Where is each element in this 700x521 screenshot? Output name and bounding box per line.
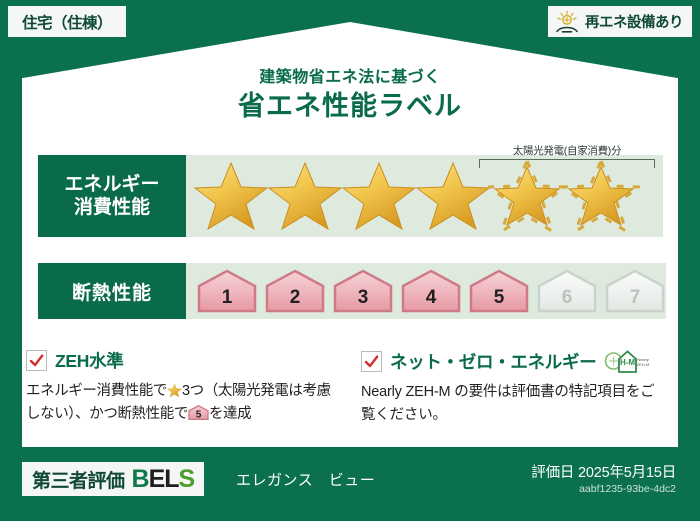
star-filled xyxy=(192,158,270,234)
inline-house-badge-icon: 5 xyxy=(188,405,209,420)
svg-text:5: 5 xyxy=(196,410,202,420)
insulation-level-badge: 2 xyxy=(264,269,326,313)
sun-icon xyxy=(554,10,580,34)
star-filled xyxy=(266,158,344,234)
insulation-levels-area: 1 2 3 4 5 6 xyxy=(186,263,666,319)
insulation-level-badge: 3 xyxy=(332,269,394,313)
net-zero-title: ネット・ゼロ・エネルギー xyxy=(390,349,596,374)
label-title: 省エネ性能ラベル xyxy=(0,84,700,123)
zeh-standard-block: ZEH水準 エネルギー消費性能で3つ（太陽光発電は考慮しない）、かつ断熱性能で5… xyxy=(26,348,351,428)
bels-letter-s: S xyxy=(179,465,195,493)
zeh-body-part3: を達成 xyxy=(209,406,251,422)
check-icon xyxy=(364,354,379,369)
insulation-performance-row: 断熱性能 1 2 3 xyxy=(38,263,663,319)
zeh-standard-body: エネルギー消費性能で3つ（太陽光発電は考慮しない）、かつ断熱性能で5を達成 xyxy=(26,380,341,427)
renewable-energy-badge: 再エネ設備あり xyxy=(548,6,692,37)
svg-text:ZEH-M: ZEH-M xyxy=(637,362,650,367)
star-solar-dashed xyxy=(562,158,640,234)
renewable-badge-label: 再エネ設備あり xyxy=(585,11,683,32)
insulation-level-badge: 7 xyxy=(604,269,666,313)
insulation-level-value: 4 xyxy=(426,288,437,313)
insulation-level-value: 3 xyxy=(358,288,369,313)
insulation-level-value: 1 xyxy=(222,288,233,313)
star-solar-dashed xyxy=(488,158,566,234)
energy-performance-label: エネルギー 消費性能 xyxy=(38,155,186,237)
building-type-tab: 住宅（住棟） xyxy=(8,6,126,37)
info-section: ZEH水準 エネルギー消費性能で3つ（太陽光発電は考慮しない）、かつ断熱性能で5… xyxy=(26,348,676,428)
net-zero-checkbox xyxy=(361,351,382,372)
net-zero-body: Nearly ZEH-M の要件は評価書の特記項目をご覧ください。 xyxy=(361,381,666,428)
building-type-label: 住宅（住棟） xyxy=(22,11,112,33)
star-filled xyxy=(340,158,418,234)
net-zero-header: ネット・ゼロ・エネルギー H-M Nearly ZEH-M xyxy=(361,348,666,374)
insulation-level-value: 7 xyxy=(630,288,641,313)
third-party-label: 第三者評価 xyxy=(32,466,125,493)
label-footer: 第三者評価 BELS エレガンス ビュー 評価日 2025年5月15日 aabf… xyxy=(0,453,700,521)
insulation-level-badge: 4 xyxy=(400,269,462,313)
evaluation-date-label: 評価日 xyxy=(531,465,574,481)
insulation-level-value: 6 xyxy=(562,288,573,313)
zeh-body-part1: エネルギー消費性能で xyxy=(26,383,167,399)
zeh-standard-checkbox xyxy=(26,350,47,371)
bels-logo: BELS xyxy=(132,467,195,492)
insulation-level-value: 5 xyxy=(494,288,505,313)
check-icon xyxy=(29,353,44,368)
insulation-level-badge: 6 xyxy=(536,269,598,313)
zeh-standard-header: ZEH水準 xyxy=(26,348,341,373)
energy-label-line2: 消費性能 xyxy=(74,196,150,219)
svg-text:H-M: H-M xyxy=(620,358,635,367)
insulation-level-badge: 5 xyxy=(468,269,530,313)
energy-label-line1: エネルギー xyxy=(64,173,159,196)
bels-letter-b: B xyxy=(132,465,149,493)
inline-star-icon xyxy=(167,383,182,398)
insulation-level-value: 2 xyxy=(290,288,301,313)
evaluation-date: 評価日 2025年5月15日 xyxy=(531,461,676,482)
bels-letter-e: E xyxy=(149,465,165,493)
bels-letter-l: L xyxy=(164,465,178,493)
zeh-standard-title: ZEH水準 xyxy=(55,348,124,373)
star-filled xyxy=(414,158,492,234)
insulation-level-badge: 1 xyxy=(196,269,258,313)
bels-certification-box: 第三者評価 BELS xyxy=(22,462,204,496)
evaluation-id: aabf1235-93be-4dc2 xyxy=(579,483,676,495)
building-name: エレガンス ビュー xyxy=(236,469,375,490)
energy-stars-area: 太陽光発電(自家消費)分 xyxy=(186,155,663,237)
evaluation-date-value: 2025年5月15日 xyxy=(578,465,676,481)
energy-performance-label: 住宅（住棟） 再エネ設備あり 建築物省エネ法に基づく 省エネ性能ラベル エネルギ… xyxy=(0,0,700,521)
energy-performance-row: エネルギー 消費性能 太陽光発電(自家消費)分 xyxy=(38,155,663,237)
net-zero-energy-block: ネット・ゼロ・エネルギー H-M Nearly ZEH-M Nearly ZEH… xyxy=(351,348,676,428)
zeh-m-logo-icon: H-M Nearly ZEH-M xyxy=(604,348,650,374)
insulation-performance-label: 断熱性能 xyxy=(38,263,186,319)
